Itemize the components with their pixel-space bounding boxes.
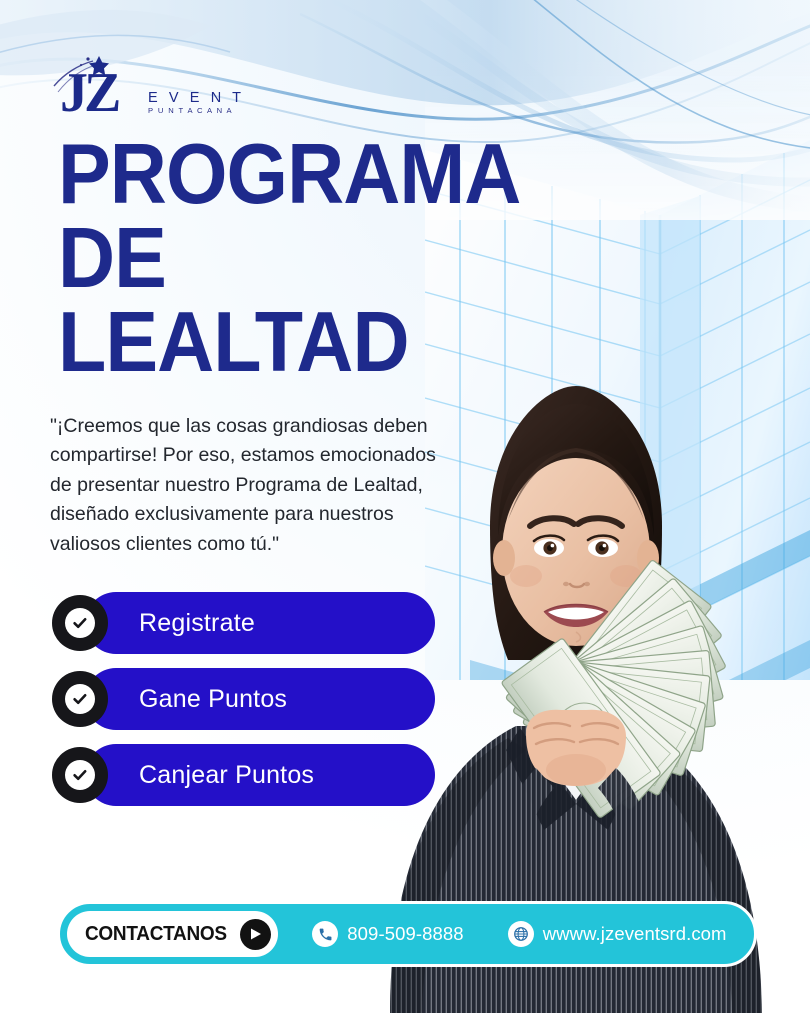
step-pill-background (85, 592, 435, 654)
step-label: Registrate (139, 592, 255, 654)
list-item[interactable]: Gane Puntos (52, 668, 442, 730)
phone-info[interactable]: 809-509-8888 (312, 921, 463, 947)
contact-footer-bar: CONTACTANOS 809-509-8888 (57, 901, 757, 967)
page-title: PROGRAMA DE LEALTAD (58, 133, 616, 385)
contact-us-button[interactable]: CONTACTANOS (67, 911, 278, 957)
globe-icon (508, 921, 534, 947)
phone-number: 809-509-8888 (347, 923, 463, 945)
intro-paragraph: "¡Creemos que las cosas grandiosas deben… (50, 412, 440, 560)
logo-location-text: P U N T A C A N A (148, 106, 233, 115)
play-arrow-icon (240, 919, 271, 950)
step-label: Gane Puntos (139, 668, 287, 730)
list-item[interactable]: Registrate (52, 592, 442, 654)
website-url: wwww.jzeventsrd.com (543, 923, 727, 945)
step-label: Canjear Puntos (139, 744, 314, 806)
brand-logo: JZ E V E N T S P U N T A C A N A (52, 56, 242, 118)
check-circle-icon (52, 595, 108, 651)
logo-events-text: E V E N T S (148, 90, 242, 106)
svg-text:JZ: JZ (60, 62, 119, 118)
website-info[interactable]: wwww.jzeventsrd.com (508, 921, 727, 947)
flyer-poster: JZ E V E N T S P U N T A C A N A PROGRAM… (0, 0, 810, 1013)
phone-icon (312, 921, 338, 947)
check-circle-icon (52, 671, 108, 727)
check-circle-icon (52, 747, 108, 803)
steps-list: Registrate Gane Puntos (52, 592, 442, 820)
list-item[interactable]: Canjear Puntos (52, 744, 442, 806)
contact-us-label: CONTACTANOS (85, 923, 227, 946)
